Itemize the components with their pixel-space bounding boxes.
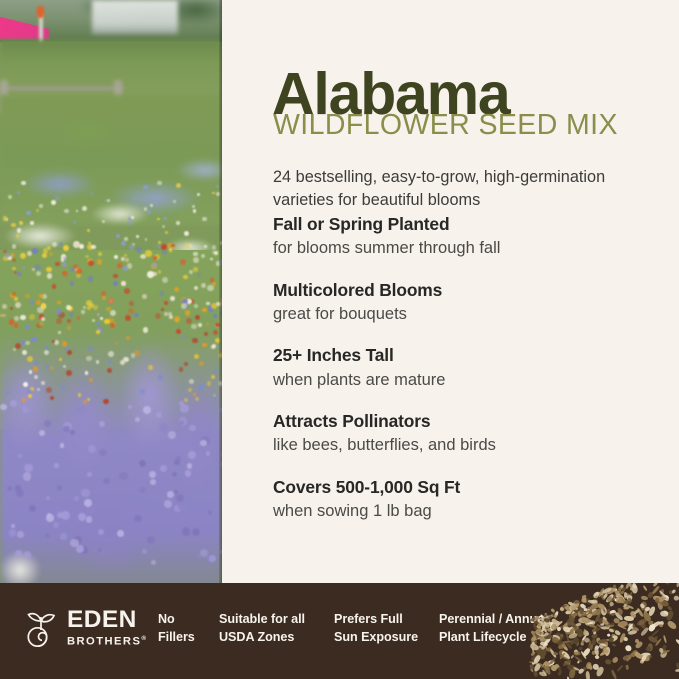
feature-subtitle: like bees, butterflies, and birds (273, 435, 668, 456)
torn-edge-shape (0, 583, 679, 591)
feature-item: Fall or Spring Planted for blooms summer… (273, 213, 668, 260)
photo-person-speck (37, 6, 44, 18)
sprout-seed-icon (22, 608, 60, 648)
feature-title: Fall or Spring Planted (273, 213, 668, 235)
feature-item: Covers 500-1,000 Sq Ft when sowing 1 lb … (273, 476, 668, 523)
product-description: 24 bestselling, easy-to-grow, high-germi… (273, 166, 663, 212)
logo-wordmark: EDEN BROTHERS® (67, 608, 146, 647)
feature-subtitle: when sowing 1 lb bag (273, 501, 668, 522)
footer-feature-sun-exposure: Prefers Full Sun Exposure (334, 611, 418, 647)
footer-feature-no-fillers: No Fillers (158, 611, 195, 647)
eden-brothers-logo[interactable]: EDEN BROTHERS® (22, 608, 146, 648)
logo-brothers-text: BROTHERS® (67, 636, 146, 648)
photo-white-shed (92, 0, 178, 34)
feature-item: Multicolored Blooms great for bouquets (273, 279, 668, 326)
product-infographic: Alabama WILDFLOWER SEED MIX 24 bestselli… (0, 0, 679, 679)
wildflower-meadow-photo (0, 0, 222, 612)
feature-title: 25+ Inches Tall (273, 344, 668, 366)
feature-list: Fall or Spring Planted for blooms summer… (273, 213, 668, 542)
feature-title: Attracts Pollinators (273, 410, 668, 432)
content-panel: Alabama WILDFLOWER SEED MIX 24 bestselli… (222, 0, 679, 612)
feature-title: Covers 500-1,000 Sq Ft (273, 476, 668, 498)
feature-title: Multicolored Blooms (273, 279, 668, 301)
page-subtitle: WILDFLOWER SEED MIX (273, 110, 673, 141)
torn-soil-edge (0, 583, 679, 591)
footer-feature-plant-lifecycle: Perennial / Annual Plant Lifecycle (439, 611, 548, 647)
footer-bar: EDEN BROTHERS® No Fillers Suitable for a… (0, 583, 679, 679)
registered-mark: ® (141, 635, 146, 642)
logo-brothers-word: BROTHERS (67, 636, 141, 648)
feature-subtitle: great for bouquets (273, 304, 668, 325)
feature-item: 25+ Inches Tall when plants are mature (273, 344, 668, 391)
feature-item: Attracts Pollinators like bees, butterfl… (273, 410, 668, 457)
logo-eden-text: EDEN (67, 608, 146, 633)
feature-subtitle: for blooms summer through fall (273, 238, 668, 259)
footer-feature-usda-zones: Suitable for all USDA Zones (219, 611, 305, 647)
feature-subtitle: when plants are mature (273, 370, 668, 391)
